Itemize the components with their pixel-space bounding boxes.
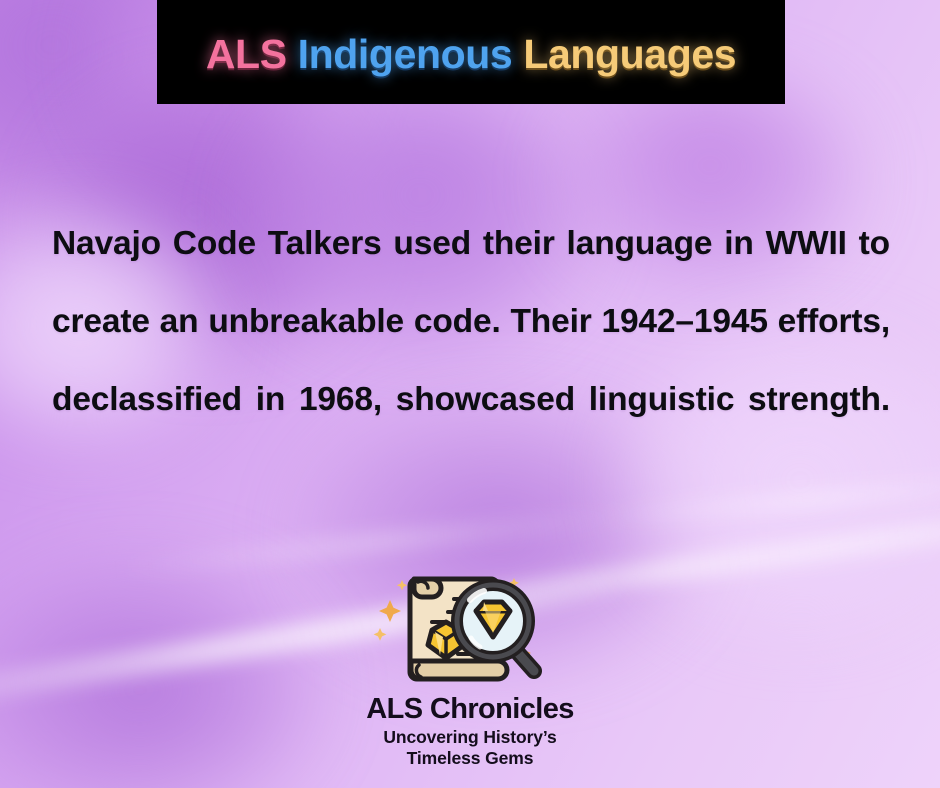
brand-tagline-line-1: Uncovering History’s [383, 727, 556, 748]
brand-logo-block: ALS Chronicles Uncovering History’s Time… [0, 566, 940, 769]
title-word-languages: Languages [523, 34, 736, 75]
body-paragraph: Navajo Code Talkers used their language … [52, 205, 890, 517]
scroll-gem-magnifier-icon [362, 566, 578, 690]
title-word-als: ALS [206, 34, 287, 75]
brand-tagline: Uncovering History’s Timeless Gems [383, 727, 556, 768]
social-post-card: ALSIndigenousLanguages Navajo Code Talke… [0, 0, 940, 788]
page-title: ALSIndigenousLanguages [206, 34, 736, 75]
header-banner: ALSIndigenousLanguages [157, 0, 785, 104]
brand-tagline-line-2: Timeless Gems [383, 748, 556, 769]
brand-name: ALS Chronicles [366, 694, 574, 724]
title-word-indigenous: Indigenous [298, 34, 513, 75]
